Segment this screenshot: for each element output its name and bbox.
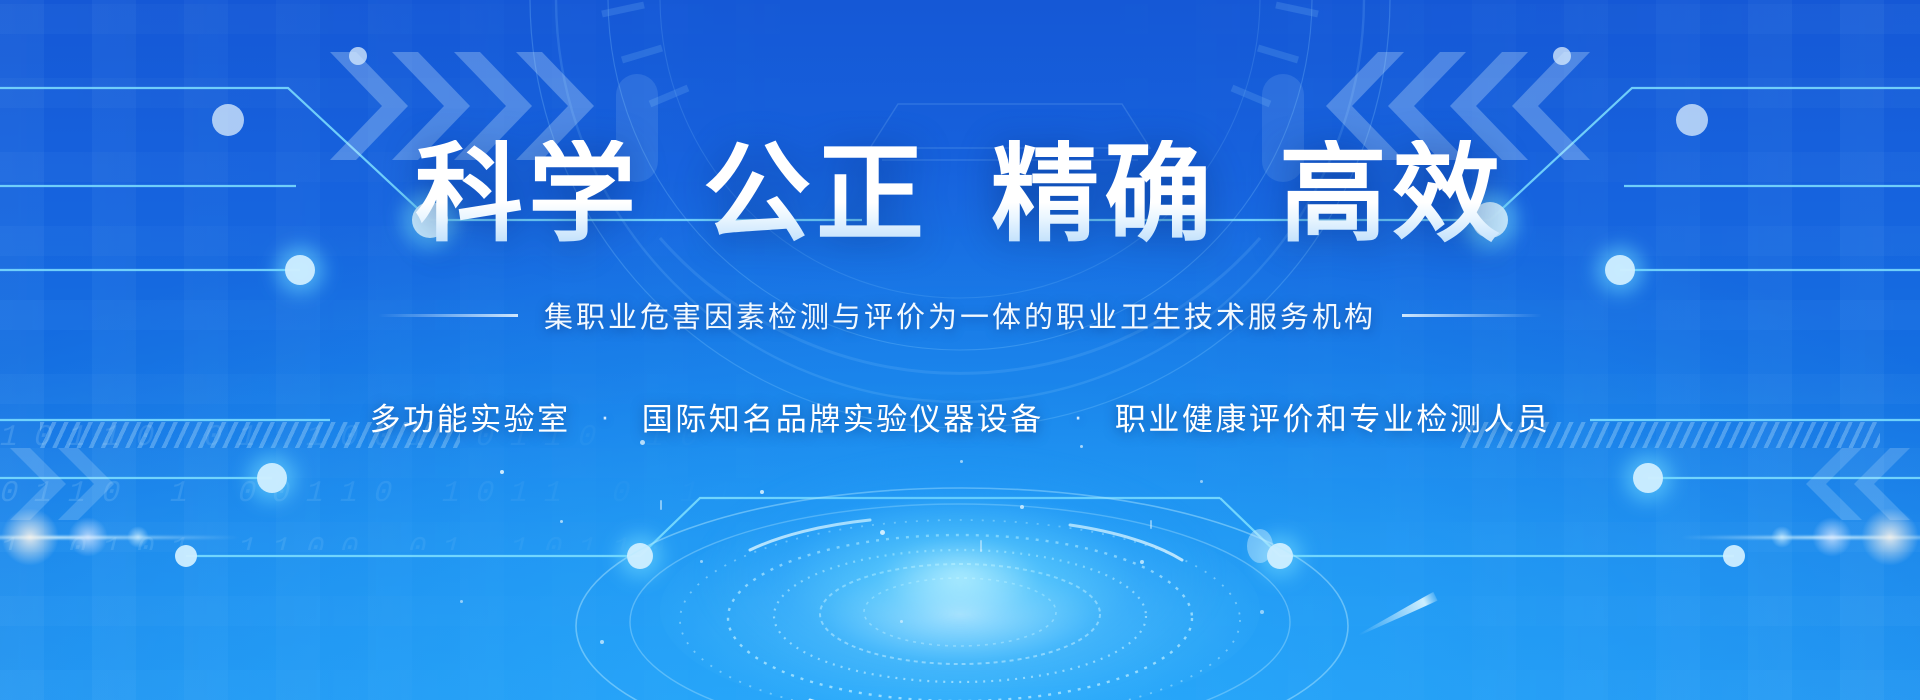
feature-separator-icon: · <box>601 401 612 432</box>
headline-word-3: 精确 <box>991 140 1217 248</box>
subtitle-rule-right <box>1402 314 1542 317</box>
page-title: 科学 公正 精确 高效 <box>415 140 1505 248</box>
hero-banner: 10110 01 1001 0110 10 0110 1 0110 1 0011… <box>0 0 1920 700</box>
feature-list: 多功能实验室 · 国际知名品牌实验仪器设备 · 职业健康评价和专业检测人员 <box>370 394 1551 439</box>
feature-separator-icon: · <box>1074 401 1085 432</box>
subtitle-rule-left <box>378 314 518 317</box>
subtitle-text: 集职业危害因素检测与评价为一体的职业卫生技术服务机构 <box>544 294 1376 336</box>
feature-item-2: 国际知名品牌实验仪器设备 <box>642 394 1044 439</box>
feature-item-1: 多功能实验室 <box>370 394 571 439</box>
headline-word-2: 公正 <box>703 140 929 248</box>
feature-item-3: 职业健康评价和专业检测人员 <box>1115 394 1551 439</box>
headline-word-1: 科学 <box>415 140 641 248</box>
headline-word-4: 高效 <box>1279 140 1505 248</box>
banner-content: 科学 公正 精确 高效 集职业危害因素检测与评价为一体的职业卫生技术服务机构 多… <box>0 0 1920 700</box>
subtitle-row: 集职业危害因素检测与评价为一体的职业卫生技术服务机构 <box>378 294 1542 336</box>
